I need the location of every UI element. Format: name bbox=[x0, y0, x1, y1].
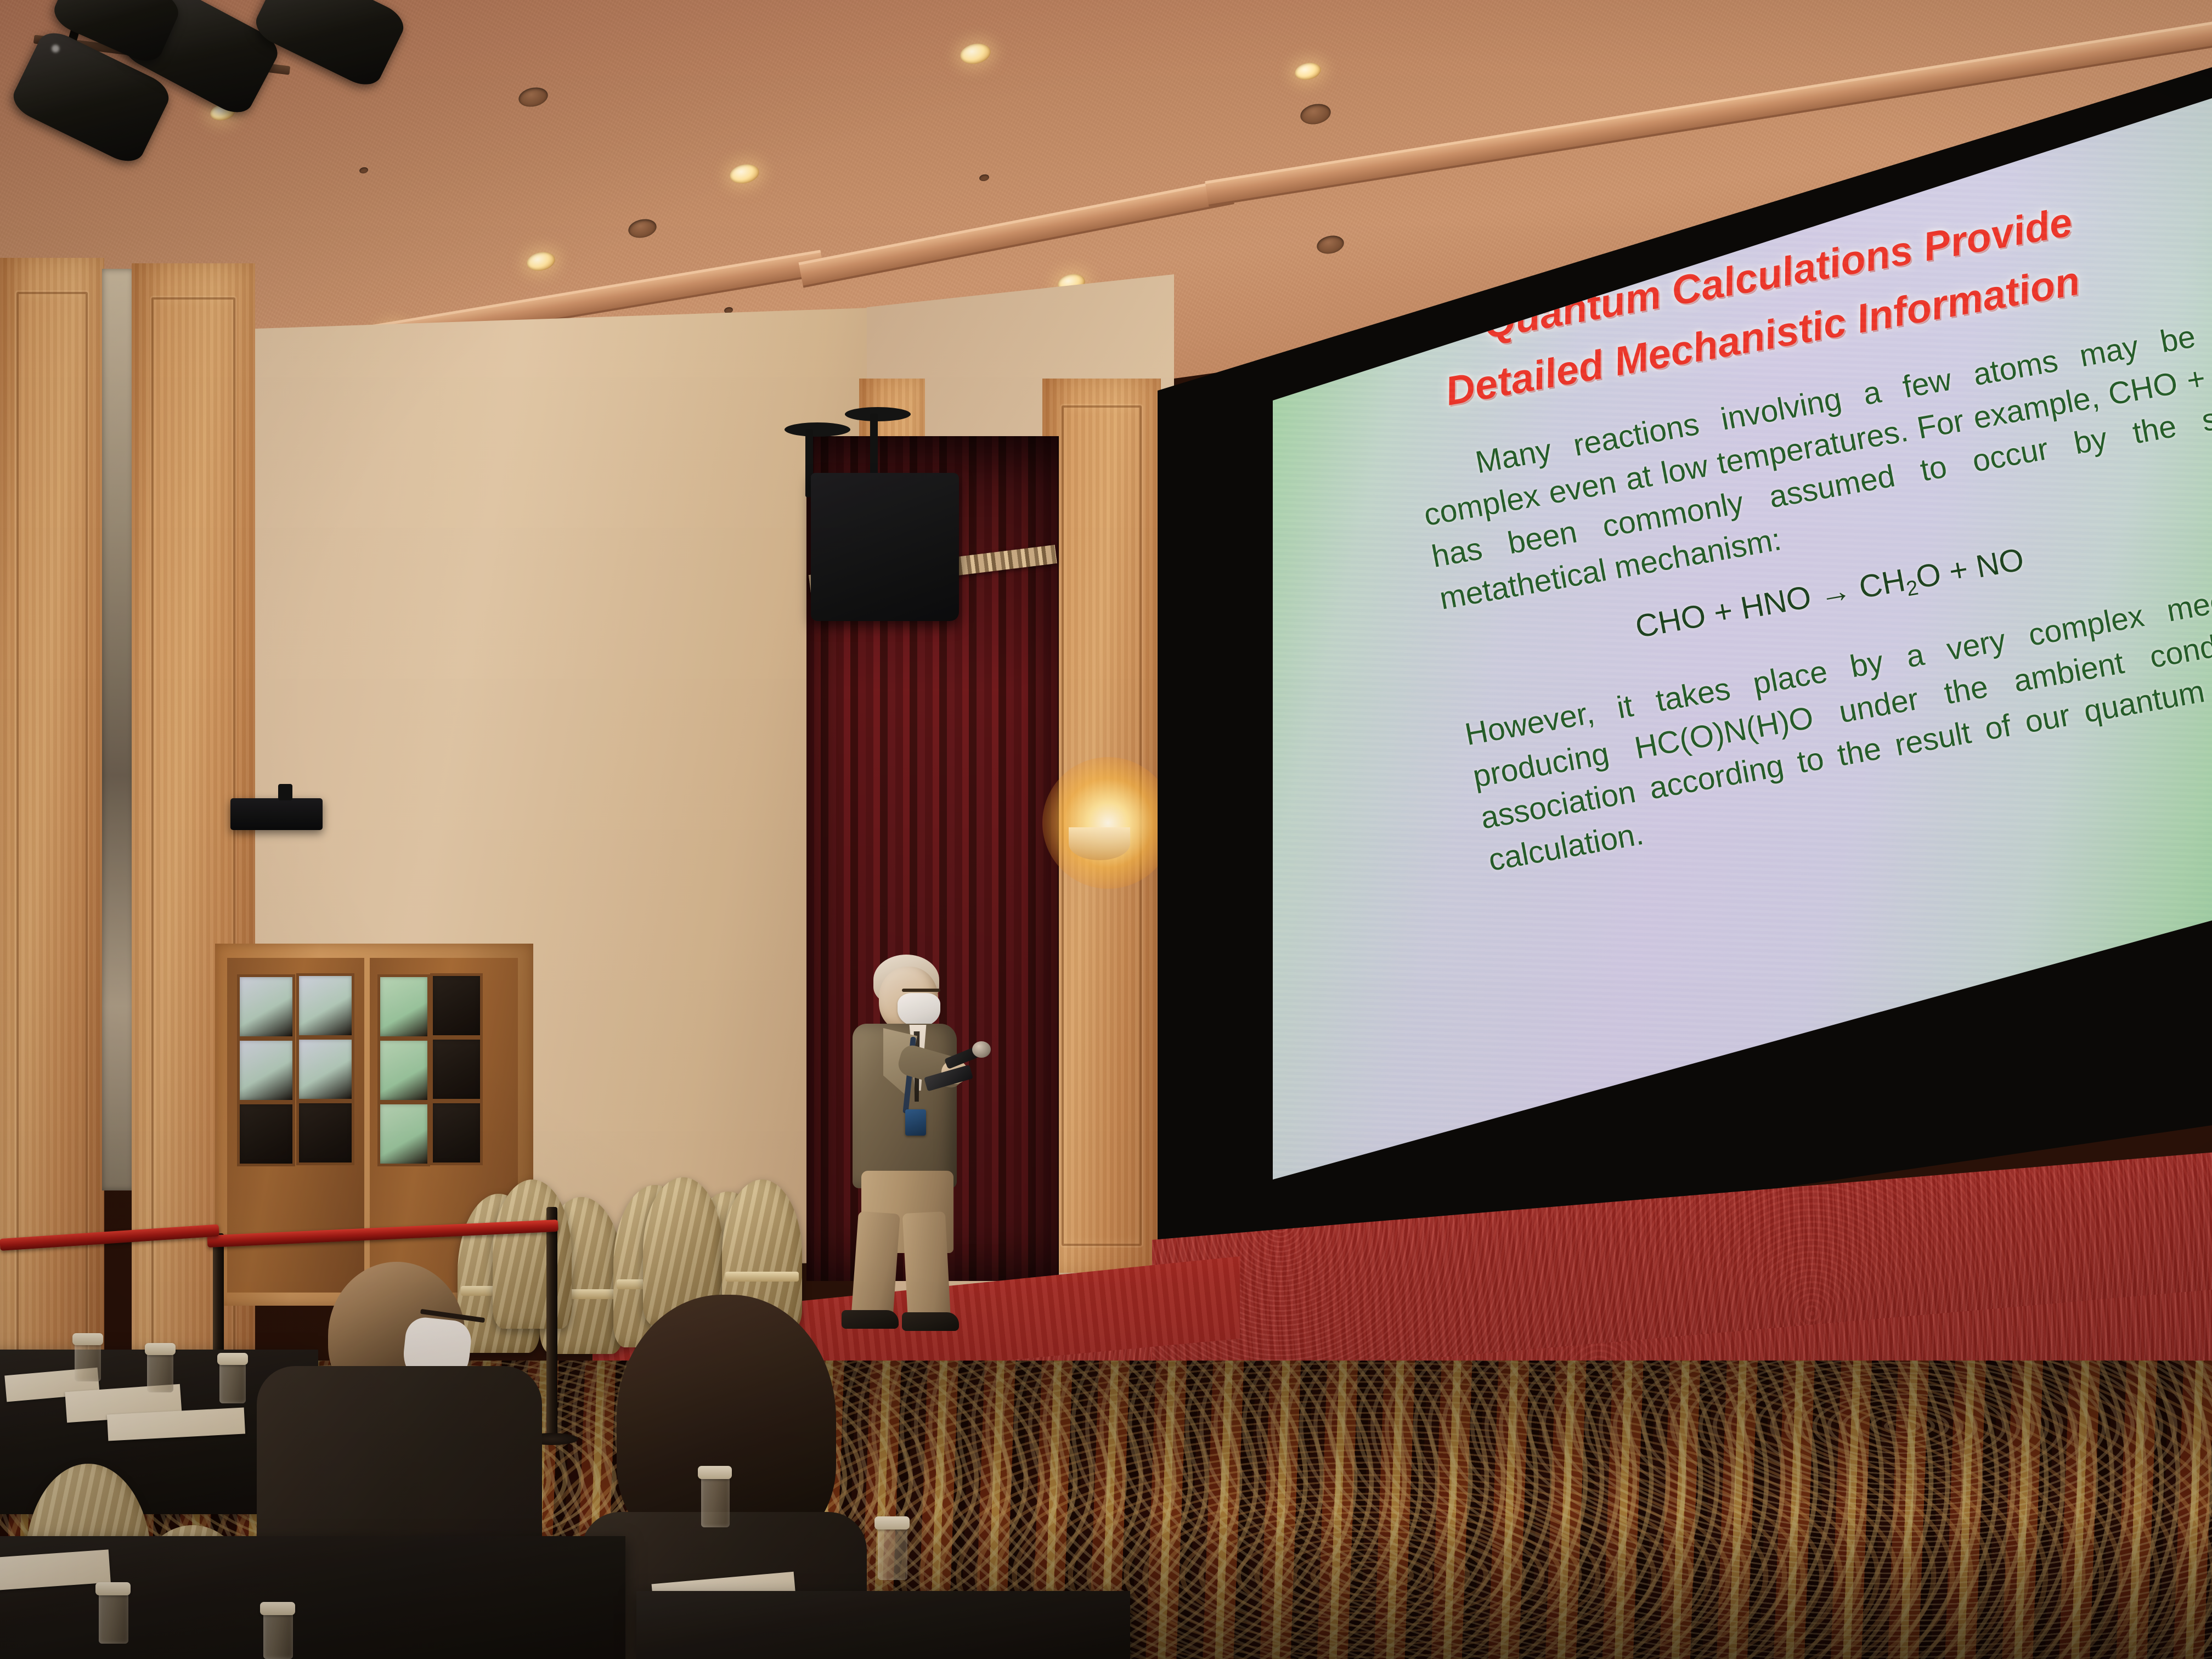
speaker-ceiling-plate bbox=[845, 407, 911, 421]
door-pane bbox=[296, 1101, 354, 1165]
speaker-ceiling-plate bbox=[785, 422, 850, 437]
pilaster-panel bbox=[16, 292, 87, 1354]
chair-sash bbox=[725, 1272, 799, 1282]
equation-suffix: O + NO bbox=[1913, 541, 2027, 595]
sconce-fixture bbox=[1069, 827, 1130, 860]
wall-sconce-light bbox=[1042, 757, 1174, 889]
bottle-cap bbox=[260, 1602, 295, 1615]
bottle-cap bbox=[874, 1516, 910, 1530]
speaker-bracket bbox=[278, 784, 292, 800]
microphone-head bbox=[972, 1041, 991, 1058]
hanging-pa-speaker bbox=[811, 473, 959, 621]
door-pane bbox=[237, 1102, 295, 1166]
wood-pilaster bbox=[0, 258, 104, 1388]
door-pane bbox=[296, 1037, 354, 1102]
water-bottle[interactable] bbox=[99, 1591, 128, 1644]
door-pane bbox=[237, 974, 295, 1039]
water-bottle[interactable] bbox=[263, 1611, 293, 1659]
water-bottle[interactable] bbox=[75, 1341, 101, 1381]
door-pane bbox=[377, 1038, 430, 1103]
presenter-badge bbox=[905, 1109, 926, 1136]
presenter bbox=[828, 955, 1037, 1317]
door-pane bbox=[377, 974, 430, 1039]
door-pane bbox=[377, 1102, 430, 1166]
wall-mounted-speaker bbox=[230, 798, 323, 830]
conference-presentation-scene: Quantum Calculations Provide Detailed Me… bbox=[0, 0, 2212, 1659]
water-bottle[interactable] bbox=[147, 1351, 173, 1392]
presenter-shoe-front bbox=[902, 1312, 959, 1331]
presenter-leg-front bbox=[902, 1211, 951, 1323]
water-bottle[interactable] bbox=[701, 1475, 730, 1527]
door-pane bbox=[296, 973, 354, 1038]
bottle-cap bbox=[145, 1343, 176, 1355]
door-pane bbox=[430, 1037, 483, 1102]
water-bottle[interactable] bbox=[878, 1525, 907, 1580]
bottle-cap bbox=[95, 1582, 131, 1595]
speaker-support-rod bbox=[870, 414, 878, 475]
presenter-glasses bbox=[902, 989, 940, 992]
mirror-strip bbox=[102, 269, 134, 1190]
door-pane bbox=[430, 973, 483, 1038]
conference-table bbox=[636, 1591, 1130, 1659]
presenter-face-mask bbox=[898, 993, 940, 1027]
door-pane bbox=[430, 1101, 483, 1165]
bottle-cap bbox=[72, 1333, 103, 1345]
bottle-cap bbox=[698, 1466, 732, 1479]
door-pane bbox=[237, 1038, 295, 1103]
